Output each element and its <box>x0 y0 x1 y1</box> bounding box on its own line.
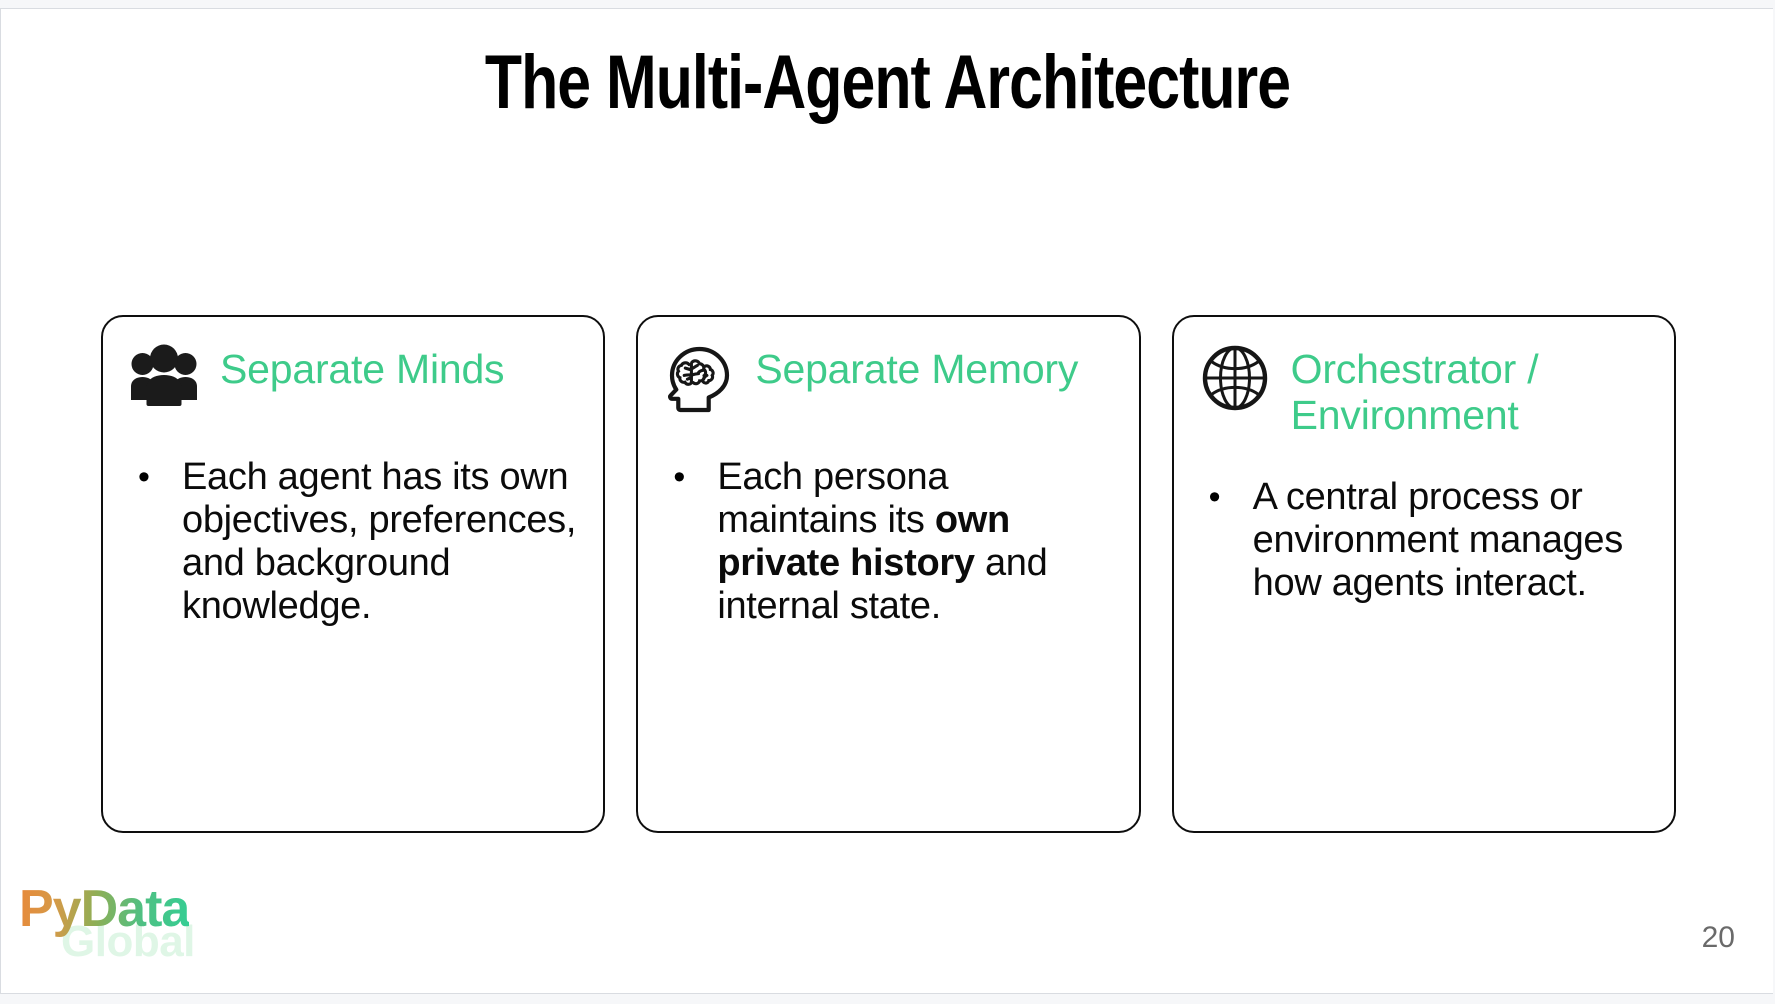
logo-primary-text: PyData <box>19 879 189 939</box>
card-orchestrator-environment[interactable]: Orchestrator / Environment • A central p… <box>1172 315 1676 833</box>
list-item: • Each agent has its own objectives, pre… <box>125 456 581 628</box>
list-item: • Each persona maintains its own private… <box>660 456 1116 628</box>
bullet-list: • Each persona maintains its own private… <box>660 456 1116 628</box>
card-title: Separate Minds <box>220 342 504 392</box>
card-header: Separate Memory <box>660 342 1116 418</box>
page-number: 20 <box>1702 921 1735 955</box>
globe-icon <box>1196 342 1274 418</box>
card-header: Separate Minds <box>125 342 581 418</box>
bullet-list: • A central process or environment manag… <box>1196 476 1652 605</box>
card-header: Orchestrator / Environment <box>1196 342 1652 438</box>
card-separate-memory[interactable]: Separate Memory • Each persona maintains… <box>636 315 1140 833</box>
page-title: The Multi-Agent Architecture <box>178 39 1596 126</box>
bullet-text: Each persona maintains its own private h… <box>717 456 1116 628</box>
slide-canvas: The Multi-Agent Architecture <box>0 8 1773 994</box>
bullet-text: A central process or environment manages… <box>1253 476 1652 605</box>
card-title: Separate Memory <box>755 342 1078 392</box>
bullet-text: Each agent has its own objectives, prefe… <box>182 456 581 628</box>
head-brain-icon <box>660 342 738 418</box>
bullet-marker: • <box>1196 476 1253 519</box>
bullet-list: • Each agent has its own objectives, pre… <box>125 456 581 628</box>
bullet-marker: • <box>660 456 717 499</box>
bullet-marker: • <box>125 456 182 499</box>
card-title: Orchestrator / Environment <box>1291 342 1652 438</box>
people-group-icon <box>125 342 203 418</box>
card-row: Separate Minds • Each agent has its own … <box>101 315 1676 833</box>
list-item: • A central process or environment manag… <box>1196 476 1652 605</box>
pydata-global-logo: Global PyData <box>19 879 229 975</box>
card-separate-minds[interactable]: Separate Minds • Each agent has its own … <box>101 315 605 833</box>
